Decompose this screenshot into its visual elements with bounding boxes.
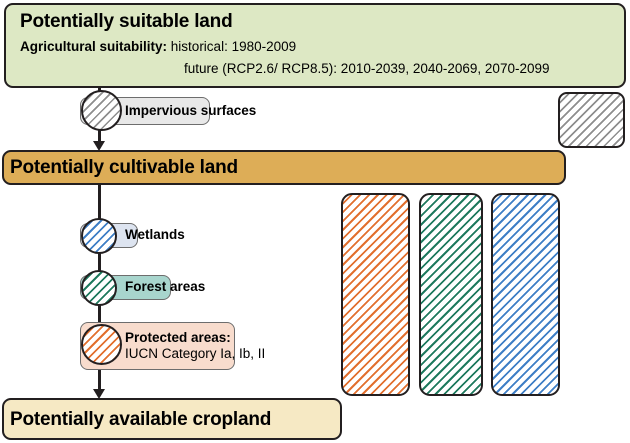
swatch-impervious-surfaces — [558, 92, 625, 148]
marker-wetlands — [81, 218, 117, 254]
box-potentially-suitable-land[interactable]: Potentially suitable land Agricultural s… — [4, 3, 626, 88]
page-title: Potentially suitable land — [20, 11, 233, 33]
label-potentially-available-cropland: Potentially available cropland — [10, 409, 271, 431]
suitability-future: future (RCP2.6/ RCP8.5): 2010-2039, 2040… — [184, 61, 550, 76]
suitability-label: Agricultural suitability: — [20, 39, 167, 54]
arrowhead-to-cropland — [93, 389, 105, 399]
suitability-line-2: future (RCP2.6/ RCP8.5): 2010-2039, 2040… — [184, 61, 550, 76]
label-potentially-cultivable-land: Potentially cultivable land — [10, 157, 238, 179]
swatch-bar-forest-areas — [419, 193, 483, 396]
marker-forest-areas — [81, 270, 117, 306]
suitability-historical: historical: 1980-2009 — [171, 39, 296, 54]
marker-protected-areas — [81, 324, 122, 365]
swatch-bar-protected-areas — [341, 193, 410, 396]
connector-forest-to-protected — [98, 304, 101, 324]
marker-impervious-surfaces — [81, 90, 122, 131]
suitability-line-1: Agricultural suitability: historical: 19… — [20, 39, 296, 54]
arrowhead-to-cultivable — [93, 141, 105, 151]
connector-cultivable-to-wetlands — [98, 185, 101, 220]
diagram-canvas: Potentially suitable land Agricultural s… — [0, 0, 630, 443]
swatch-bar-wetlands — [491, 193, 560, 396]
